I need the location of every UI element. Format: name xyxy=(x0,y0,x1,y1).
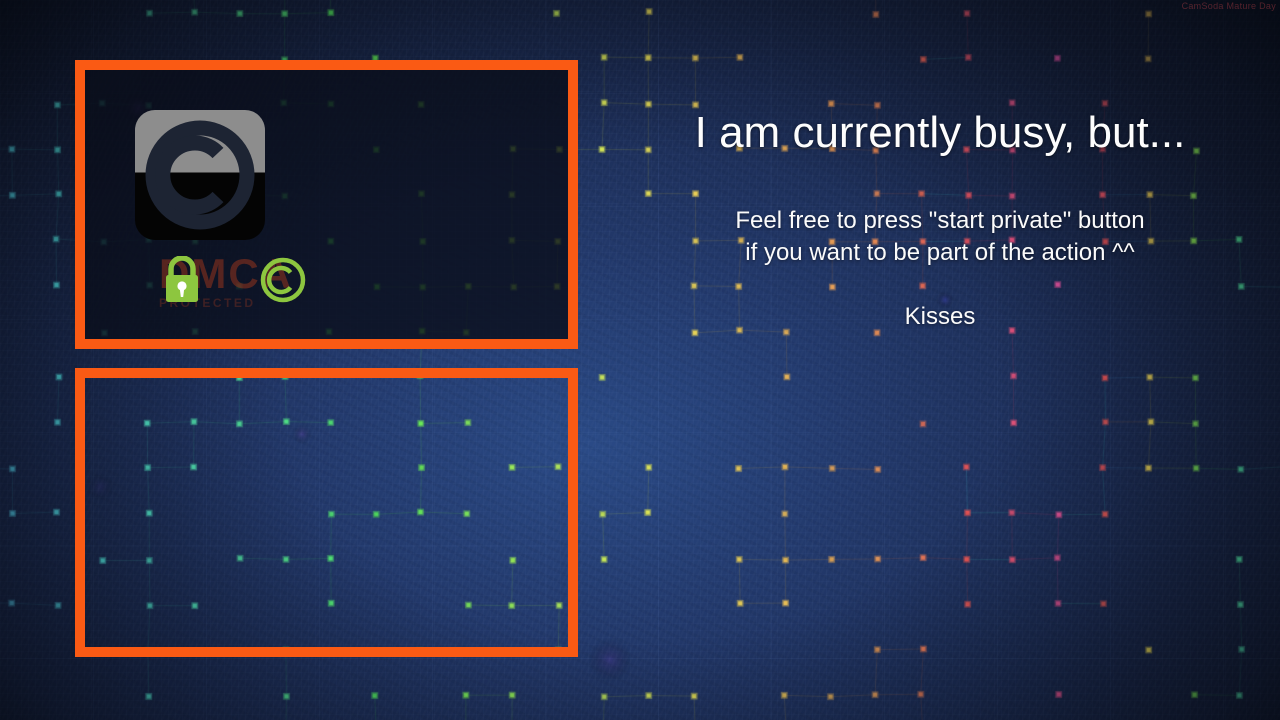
lock-icon xyxy=(163,256,201,309)
main-camera-frame[interactable]: DMCA PROTECTED xyxy=(75,60,578,349)
dmca-badge-cluster: DMCA PROTECTED xyxy=(135,110,335,330)
status-body-line-1: Feel free to press "start private" butto… xyxy=(640,205,1240,237)
copyright-icon xyxy=(259,256,307,309)
stream-screen: CamSoda Mature Day xyxy=(0,0,1280,720)
status-message-panel: I am currently busy, but... Feel free to… xyxy=(640,110,1240,331)
main-camera-surface: DMCA PROTECTED xyxy=(85,70,568,339)
copyright-tile-icon xyxy=(135,110,265,240)
status-body: Feel free to press "start private" butto… xyxy=(640,205,1240,269)
status-body-line-2: if you want to be part of the action ^^ xyxy=(640,237,1240,269)
status-signoff: Kisses xyxy=(640,303,1240,331)
secondary-camera-frame[interactable] xyxy=(75,368,578,657)
secondary-camera-surface xyxy=(85,378,568,647)
status-headline: I am currently busy, but... xyxy=(640,110,1240,157)
